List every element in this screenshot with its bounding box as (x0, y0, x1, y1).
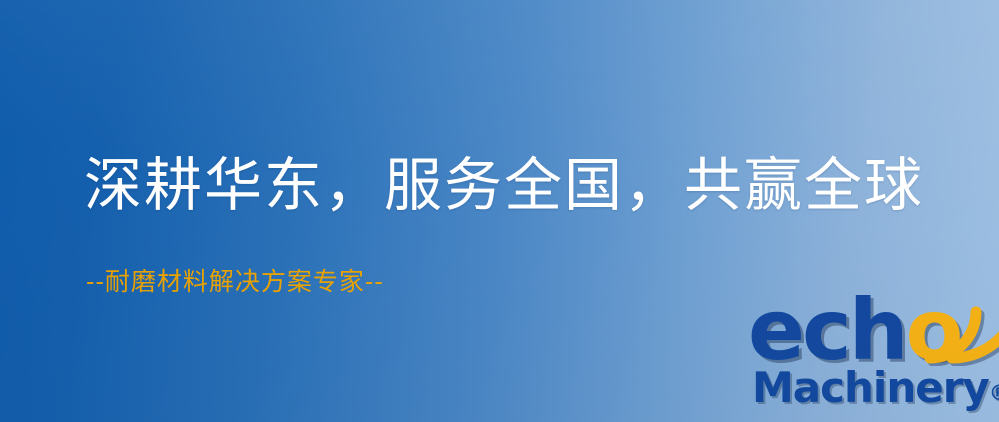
echo-machinery-logo[interactable]: echo Machinery® (744, 292, 999, 420)
logo-tagline-text: Machinery (752, 363, 989, 412)
logo-tagline: Machinery® (752, 366, 999, 415)
banner-subheadline: --耐磨材料解决方案专家-- (86, 266, 384, 298)
signal-waves-icon (920, 288, 999, 366)
registered-trademark-icon: ® (989, 381, 999, 405)
banner-headline: 深耕华东，服务全国，共赢全球 (84, 150, 924, 220)
hero-banner: 深耕华东，服务全国，共赢全球 --耐磨材料解决方案专家-- echo Machi… (0, 0, 999, 422)
